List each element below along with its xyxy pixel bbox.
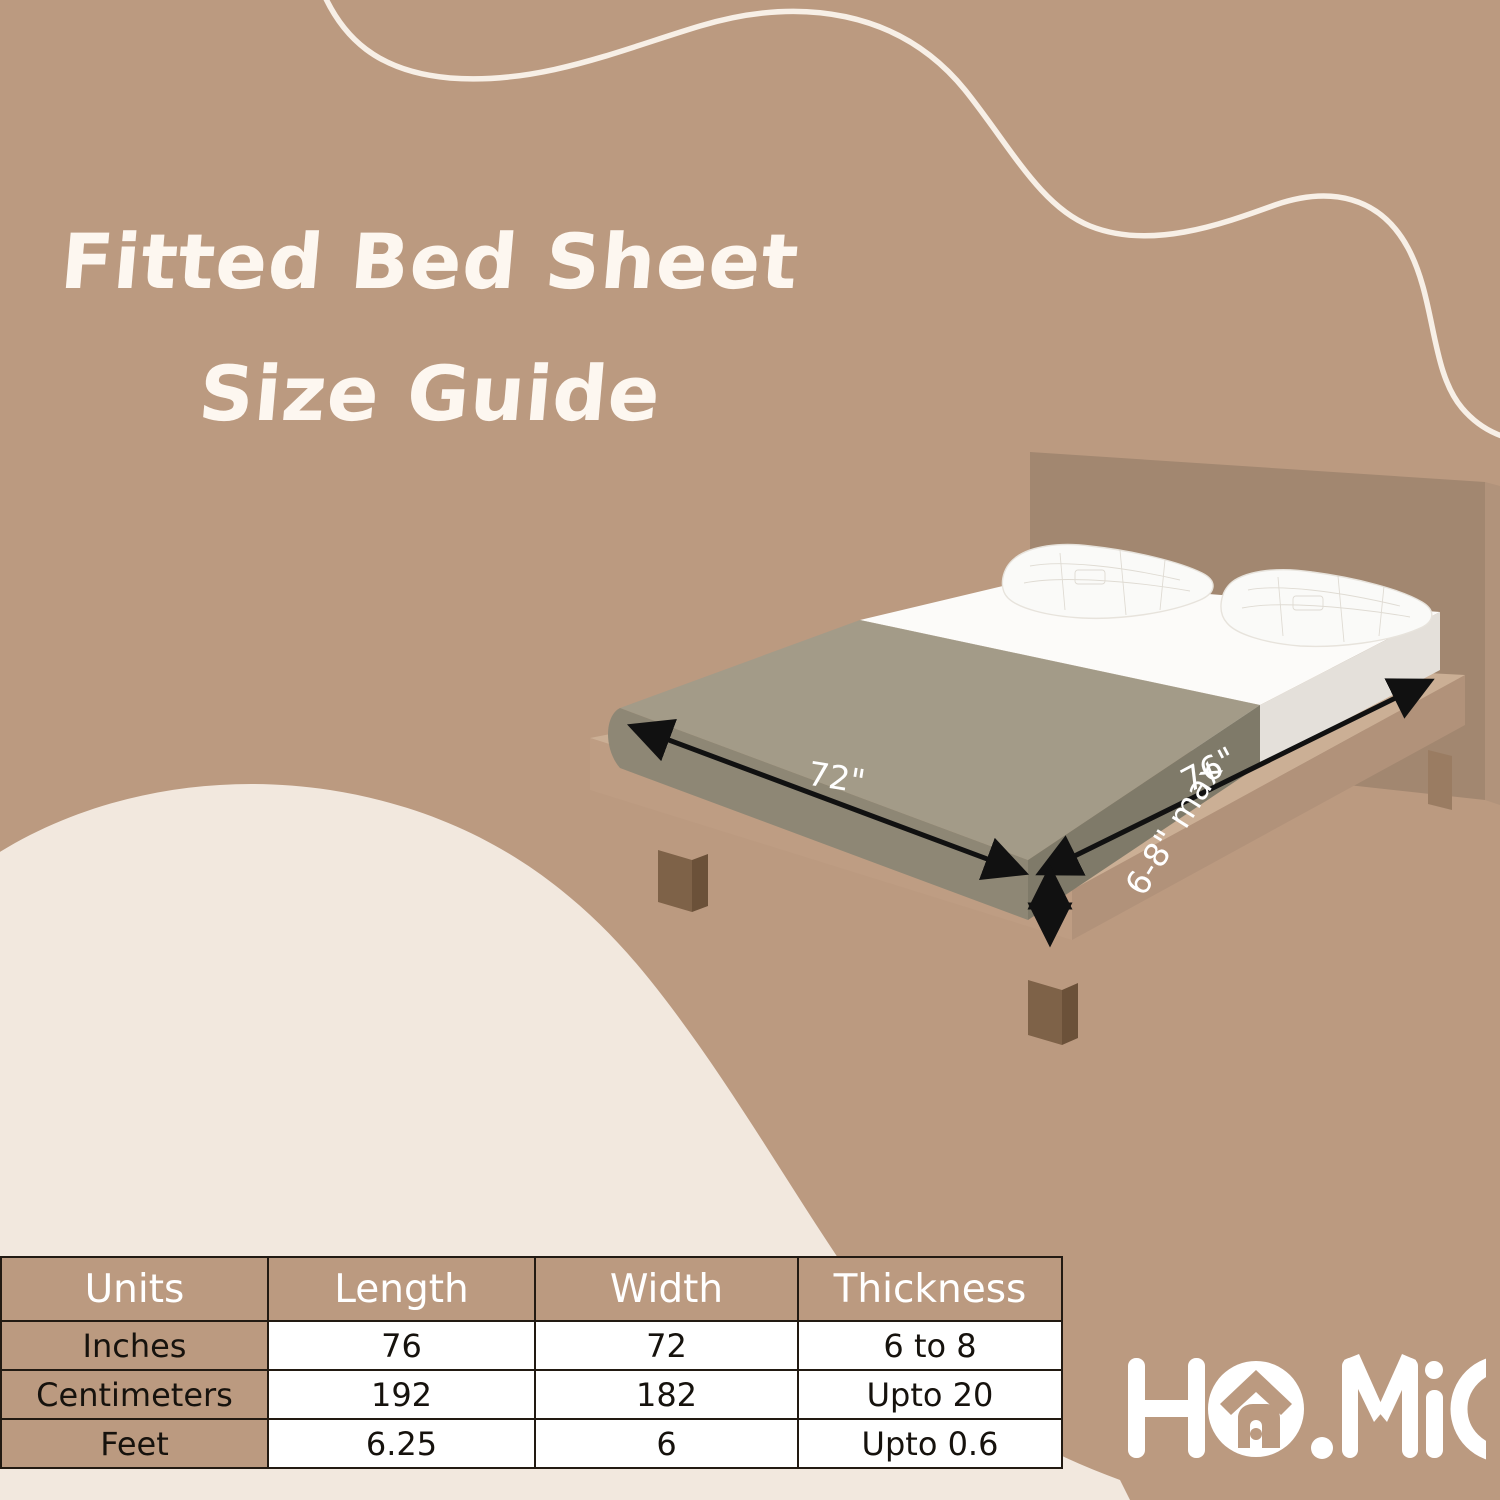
column-header-length: Length: [268, 1257, 535, 1321]
logo-letter-h: [1128, 1358, 1205, 1458]
logo-dot: [1311, 1437, 1333, 1459]
cell-units-centimeters: Centimeters: [1, 1370, 268, 1419]
infographic-canvas: Fitted Bed Sheet Size Guide: [0, 0, 1500, 1500]
table-row: Feet 6.25 6 Upto 0.6: [1, 1419, 1062, 1468]
bed-leg-front-right: [1028, 980, 1062, 1045]
title-line-1: Fitted Bed Sheet: [0, 222, 863, 302]
headboard-edge: [1485, 482, 1500, 805]
cell-units-inches: Inches: [1, 1321, 268, 1370]
cell-width-centimeters: 182: [535, 1370, 798, 1419]
column-header-units: Units: [1, 1257, 268, 1321]
bed-leg-front-right-side: [1062, 983, 1078, 1045]
size-guide-table: Units Length Width Thickness Inches 76 7…: [0, 1256, 1063, 1469]
table-header-row: Units Length Width Thickness: [1, 1257, 1062, 1321]
logo-letter-m: [1342, 1354, 1418, 1458]
bed-leg-front-left: [658, 850, 692, 912]
column-header-thickness: Thickness: [798, 1257, 1062, 1321]
cell-length-feet: 6.25: [268, 1419, 535, 1468]
cell-length-inches: 76: [268, 1321, 535, 1370]
table-row: Centimeters 192 182 Upto 20: [1, 1370, 1062, 1419]
logo-letter-o-split: [1459, 1356, 1486, 1462]
page-title: Fitted Bed Sheet Size Guide: [0, 222, 860, 434]
logo-house-icon: [1208, 1361, 1304, 1457]
cell-thickness-inches: 6 to 8: [798, 1321, 1062, 1370]
cell-width-feet: 6: [535, 1419, 798, 1468]
cell-units-feet: Feet: [1, 1419, 268, 1468]
bed-illustration: [560, 420, 1500, 1100]
cell-width-inches: 72: [535, 1321, 798, 1370]
cell-thickness-centimeters: Upto 20: [798, 1370, 1062, 1419]
homio-logo: [1126, 1352, 1486, 1467]
cell-length-centimeters: 192: [268, 1370, 535, 1419]
logo-letter-i: [1425, 1361, 1443, 1458]
column-header-width: Width: [535, 1257, 798, 1321]
cell-thickness-feet: Upto 0.6: [798, 1419, 1062, 1468]
bed-leg-front-left-side: [692, 854, 708, 912]
bed-leg-back-right: [1428, 750, 1452, 810]
table-row: Inches 76 72 6 to 8: [1, 1321, 1062, 1370]
